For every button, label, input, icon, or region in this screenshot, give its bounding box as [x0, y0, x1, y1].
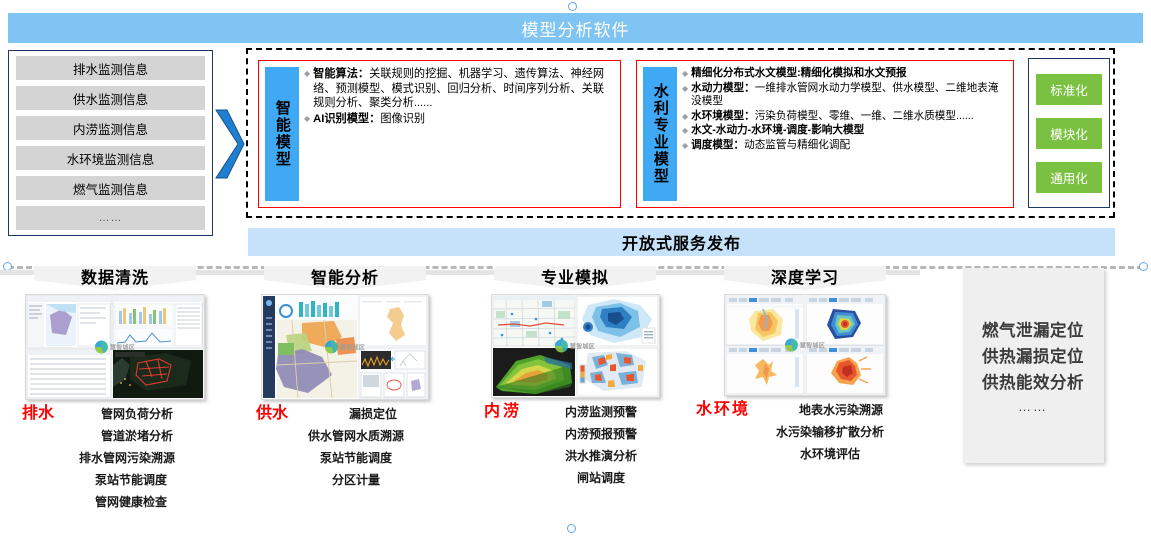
feature-list-water-environment: 水环境 地表水污染溯源 水污染输移扩散分析 水环境评估 — [690, 404, 920, 460]
diamond-bullet-icon: ◆ — [304, 70, 310, 78]
bullet-text: 智能算法：关联规则的挖掘、机器学习、遗传算法、神经网络、预测模型、模式识别、回归… — [313, 67, 614, 111]
intelligent-model-box: 智能模型 ◆ 智能算法：关联规则的挖掘、机器学习、遗传算法、神经网络、预测模型、… — [258, 60, 621, 208]
bullet-title: 调度模型 — [691, 139, 733, 151]
source-item-label: 排水监测信息 — [73, 59, 148, 78]
feature-item[interactable]: 泵站节能调度 — [0, 474, 230, 486]
feature-item[interactable]: 闸站调度 — [460, 472, 690, 484]
bullet-title: 水环境模型 — [691, 110, 744, 122]
bullet-row: ◆ 智能算法：关联规则的挖掘、机器学习、遗传算法、神经网络、预测模型、模式识别、… — [304, 67, 614, 111]
bullet-body: 污染负荷模型、零维、一维、二维水质模型...... — [755, 110, 974, 122]
water-model-tab: 水利专业模型 — [643, 67, 677, 201]
bullet-text: 精细化分布式水文模型:精细化模拟和水文预报 — [691, 67, 906, 81]
workflow-column-waterlogging: 专业模拟 — [460, 264, 690, 494]
ribbon-label: 智能分析 — [230, 264, 460, 288]
source-item-1[interactable]: 供水监测信息 — [16, 86, 205, 110]
tag-modularization[interactable]: 模块化 — [1036, 118, 1102, 149]
capability-tags-box: 标准化 模块化 通用化 — [1028, 58, 1110, 208]
source-item-2[interactable]: 内涝监测信息 — [16, 116, 205, 140]
deep-learning-line: 供热能效分析 — [982, 369, 1084, 393]
watermark-circle-icon — [555, 340, 568, 353]
bullet-sep: ： — [358, 68, 369, 80]
ribbon-professional-simulation: 专业模拟 — [460, 264, 690, 290]
category-label-water-environment: 水环境 — [696, 402, 750, 418]
deep-learning-column: 燃气泄漏定位 供热漏损定位 供热能效分析 …… — [915, 264, 1151, 463]
open-service-publish-label: 开放式服务发布 — [622, 230, 741, 254]
bullet-title: AI识别模型 — [313, 113, 369, 125]
bullet-sep: ： — [744, 110, 755, 122]
source-item-label: 供水监测信息 — [73, 89, 148, 108]
diamond-bullet-icon: ◆ — [682, 113, 688, 121]
intelligent-model-tab-label: 智能模型 — [274, 100, 290, 168]
feature-item[interactable]: 内涝预报预警 — [460, 428, 690, 440]
model-layer-container: 智能模型 ◆ 智能算法：关联规则的挖掘、机器学习、遗传算法、神经网络、预测模型、… — [246, 48, 1115, 218]
ribbon-deep-learning: 深度学习 — [690, 264, 920, 290]
bullet-title: 精细化分布式水文模型:精细化模拟和水文预报 — [691, 67, 906, 79]
feature-item[interactable]: 管道淤堵分析 — [0, 430, 230, 442]
bullet-title: 水动力模型 — [691, 82, 744, 94]
source-item-label: …… — [99, 212, 123, 224]
source-item-3[interactable]: 水环境监测信息 — [16, 146, 205, 170]
thumbnail-waterlogging-map[interactable]: 慧智城区 — [491, 294, 660, 398]
diamond-bullet-icon: ◆ — [304, 115, 310, 123]
ribbon-label: 深度学习 — [690, 264, 920, 288]
bullet-row: ◆ 精细化分布式水文模型:精细化模拟和水文预报 — [682, 67, 1007, 81]
category-label-drainage: 排水 — [22, 406, 54, 422]
feature-item[interactable]: 分区计量 — [230, 474, 460, 486]
feature-item[interactable]: 水环境评估 — [690, 448, 920, 460]
bullet-title: 水文-水动力-水环境-调度-影响大模型 — [691, 124, 864, 136]
anchor-dot-top[interactable] — [568, 2, 577, 11]
source-item-label: 水环境监测信息 — [67, 149, 155, 168]
deep-learning-line: 燃气泄漏定位 — [982, 317, 1084, 341]
bullet-text: 水文-水动力-水环境-调度-影响大模型 — [691, 124, 864, 138]
bullet-row: ◆ 水环境模型：污染负荷模型、零维、一维、二维水质模型...... — [682, 110, 1007, 124]
category-label-waterlogging: 内涝 — [484, 404, 522, 420]
bullet-row: ◆ 调度模型：动态监管与精细化调配 — [682, 139, 1007, 153]
source-item-label: 燃气监测信息 — [73, 179, 148, 198]
ribbon-intelligent-analysis: 智能分析 — [230, 264, 460, 290]
bullet-row: ◆ 水文-水动力-水环境-调度-影响大模型 — [682, 124, 1007, 138]
workflow-column-water-environment: 深度学习 — [690, 264, 920, 470]
workflow-column-water-supply: 智能分析 — [230, 264, 460, 496]
bullet-row: ◆ 水动力模型：一维排水管网水动力学模型、供水模型、二维地表淹没模型 — [682, 82, 1007, 109]
source-item-4[interactable]: 燃气监测信息 — [16, 176, 205, 200]
bullet-text: AI识别模型：图像识别 — [313, 112, 425, 127]
ribbon-data-cleaning: 数据清洗 — [0, 264, 230, 290]
diamond-bullet-icon: ◆ — [682, 70, 688, 78]
feature-list-drainage: 排水 管网负荷分析 管道淤堵分析 排水管网污染溯源 泵站节能调度 管网健康检查 — [0, 408, 230, 508]
watermark-text: 慧智城区 — [570, 342, 595, 351]
bullet-text: 水环境模型：污染负荷模型、零维、一维、二维水质模型...... — [691, 110, 974, 124]
thumbnail-water-supply-dashboard[interactable]: 慧智城区 — [261, 294, 429, 400]
thumbnail-drainage-dashboard[interactable]: 慧智城区 — [25, 294, 205, 400]
bullet-text: 调度模型：动态监管与精细化调配 — [691, 139, 850, 153]
bullet-sep: ： — [734, 139, 745, 151]
deep-learning-ellipsis: …… — [1018, 399, 1048, 414]
deep-learning-line: 供热漏损定位 — [982, 343, 1084, 367]
bullet-body: 动态监管与精细化调配 — [744, 139, 850, 151]
tag-label: 通用化 — [1050, 168, 1088, 187]
page-title: 模型分析软件 — [522, 16, 630, 41]
thumbnail-water-environment-simulation[interactable]: 慧智城区 — [724, 294, 886, 396]
feature-item[interactable]: 水污染输移扩散分析 — [690, 426, 920, 438]
water-professional-model-box: 水利专业模型 ◆ 精细化分布式水文模型:精细化模拟和水文预报 ◆ 水动力模型：一… — [636, 60, 1014, 208]
feature-item[interactable]: 管网健康检查 — [0, 496, 230, 508]
watermark-logo: 慧智城区 — [555, 340, 595, 353]
bullet-text: 水动力模型：一维排水管网水动力学模型、供水模型、二维地表淹没模型 — [691, 82, 1007, 109]
source-item-0[interactable]: 排水监测信息 — [16, 56, 205, 80]
feature-item[interactable]: 排水管网污染溯源 — [0, 452, 230, 464]
bullet-body: 图像识别 — [380, 113, 425, 125]
intelligent-model-tab: 智能模型 — [265, 67, 299, 201]
water-model-body: ◆ 精细化分布式水文模型:精细化模拟和水文预报 ◆ 水动力模型：一维排水管网水动… — [677, 61, 1013, 207]
feature-item[interactable]: 洪水推演分析 — [460, 450, 690, 462]
deep-learning-panel[interactable]: 燃气泄漏定位 供热漏损定位 供热能效分析 …… — [963, 268, 1104, 463]
bullet-row: ◆ AI识别模型：图像识别 — [304, 112, 614, 127]
feature-item[interactable]: 泵站节能调度 — [230, 452, 460, 464]
tag-generalization[interactable]: 通用化 — [1036, 162, 1102, 193]
open-service-publish-bar: 开放式服务发布 — [248, 228, 1115, 256]
watermark-text: 慧智城区 — [340, 343, 365, 352]
source-item-5[interactable]: …… — [16, 206, 205, 230]
diamond-bullet-icon: ◆ — [682, 142, 688, 150]
tag-label: 模块化 — [1050, 124, 1088, 143]
watermark-circle-icon — [95, 341, 108, 354]
bullet-sep: ： — [744, 82, 755, 94]
feature-item[interactable]: 供水管网水质溯源 — [230, 430, 460, 442]
source-item-label: 内涝监测信息 — [73, 119, 148, 138]
diamond-bullet-icon: ◆ — [682, 127, 688, 135]
tag-label: 标准化 — [1050, 80, 1088, 99]
app-title-bar: 模型分析软件 — [8, 13, 1143, 43]
watermark-logo: 慧智城区 — [95, 341, 135, 354]
feature-list-water-supply: 供水 漏损定位 供水管网水质溯源 泵站节能调度 分区计量 — [230, 408, 460, 486]
bullet-title: 智能算法 — [313, 68, 358, 80]
watermark-circle-icon — [785, 339, 798, 352]
watermark-text: 慧智城区 — [800, 341, 825, 350]
intelligent-model-body: ◆ 智能算法：关联规则的挖掘、机器学习、遗传算法、神经网络、预测模型、模式识别、… — [299, 61, 620, 207]
data-sources-panel: 排水监测信息 供水监测信息 内涝监测信息 水环境监测信息 燃气监测信息 …… — [8, 50, 213, 236]
watermark-logo: 慧智城区 — [785, 339, 825, 352]
ribbon-label: 数据清洗 — [0, 264, 230, 288]
slide-canvas: 模型分析软件 排水监测信息 供水监测信息 内涝监测信息 水环境监测信息 燃气监测… — [0, 0, 1151, 545]
watermark-logo: 慧智城区 — [325, 341, 365, 354]
water-model-tab-label: 水利专业模型 — [652, 83, 668, 185]
tag-standardization[interactable]: 标准化 — [1036, 74, 1102, 105]
flow-arrow-icon — [214, 108, 246, 180]
feature-list-waterlogging: 内涝 内涝监测预警 内涝预报预警 洪水推演分析 闸站调度 — [460, 406, 690, 484]
category-label-water-supply: 供水 — [256, 406, 288, 422]
watermark-text: 慧智城区 — [110, 343, 135, 352]
diamond-bullet-icon: ◆ — [682, 85, 688, 93]
workflow-column-drainage: 数据清洗 — [0, 264, 230, 518]
bullet-sep: ： — [369, 113, 380, 125]
ribbon-label: 专业模拟 — [460, 264, 690, 288]
watermark-circle-icon — [325, 341, 338, 354]
workflow-columns: 数据清洗 — [0, 264, 1151, 545]
